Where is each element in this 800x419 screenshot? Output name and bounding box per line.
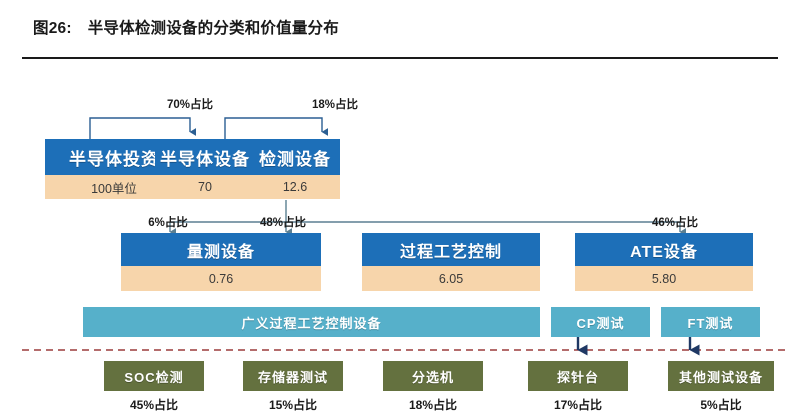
figure-title-text: 半导体检测设备的分类和价值量分布 <box>88 20 339 37</box>
share-label-prober: 17%占比 <box>528 396 628 413</box>
share-label-soc-test: 45%占比 <box>104 396 204 413</box>
share-label-handler: 18%占比 <box>383 396 483 413</box>
node-semiconductor-equipment[interactable]: 半导体设备 70 <box>155 139 255 199</box>
node-value: 6.05 <box>362 266 540 291</box>
connector-lines <box>0 0 800 419</box>
node-label: 过程工艺控制 <box>362 233 540 266</box>
node-broad-process-control[interactable]: 广义过程工艺控制设备 <box>83 307 540 337</box>
node-value: 70 <box>155 175 255 199</box>
node-process-control[interactable]: 过程工艺控制 6.05 <box>362 233 540 291</box>
node-value: 5.80 <box>575 266 753 291</box>
node-cp-test[interactable]: CP测试 <box>551 307 650 337</box>
share-label-ate: 46%占比 <box>625 214 725 230</box>
node-other-test-equipment[interactable]: 其他测试设备 <box>668 361 774 391</box>
share-label-memory-test: 15%占比 <box>243 396 343 413</box>
figure-number: 图26: <box>33 20 72 37</box>
share-label-other-test-equipment: 5%占比 <box>668 396 774 413</box>
node-ate-equipment[interactable]: ATE设备 5.80 <box>575 233 753 291</box>
node-label: 量测设备 <box>121 233 321 266</box>
share-label-process-control: 48%占比 <box>228 214 338 230</box>
node-label: 检测设备 <box>250 139 340 175</box>
share-label-metrology: 6%占比 <box>118 214 218 230</box>
connector-label-18: 18%占比 <box>275 96 395 112</box>
figure-title: 图26: 半导体检测设备的分类和价值量分布 <box>33 16 339 38</box>
node-soc-test[interactable]: SOC检测 <box>104 361 204 391</box>
figure-canvas: 图26: 半导体检测设备的分类和价值量分布 <box>0 0 800 419</box>
node-prober[interactable]: 探针台 <box>528 361 628 391</box>
node-metrology-equipment[interactable]: 量测设备 0.76 <box>121 233 321 291</box>
connector-label-70: 70%占比 <box>130 96 250 112</box>
node-value: 0.76 <box>121 266 321 291</box>
node-ft-test[interactable]: FT测试 <box>661 307 760 337</box>
node-label: ATE设备 <box>575 233 753 266</box>
node-label: 半导体设备 <box>155 139 255 175</box>
title-divider <box>22 57 778 59</box>
node-memory-test[interactable]: 存储器测试 <box>243 361 343 391</box>
node-value: 12.6 <box>250 175 340 199</box>
node-inspection-equipment[interactable]: 检测设备 12.6 <box>250 139 340 199</box>
node-handler[interactable]: 分选机 <box>383 361 483 391</box>
